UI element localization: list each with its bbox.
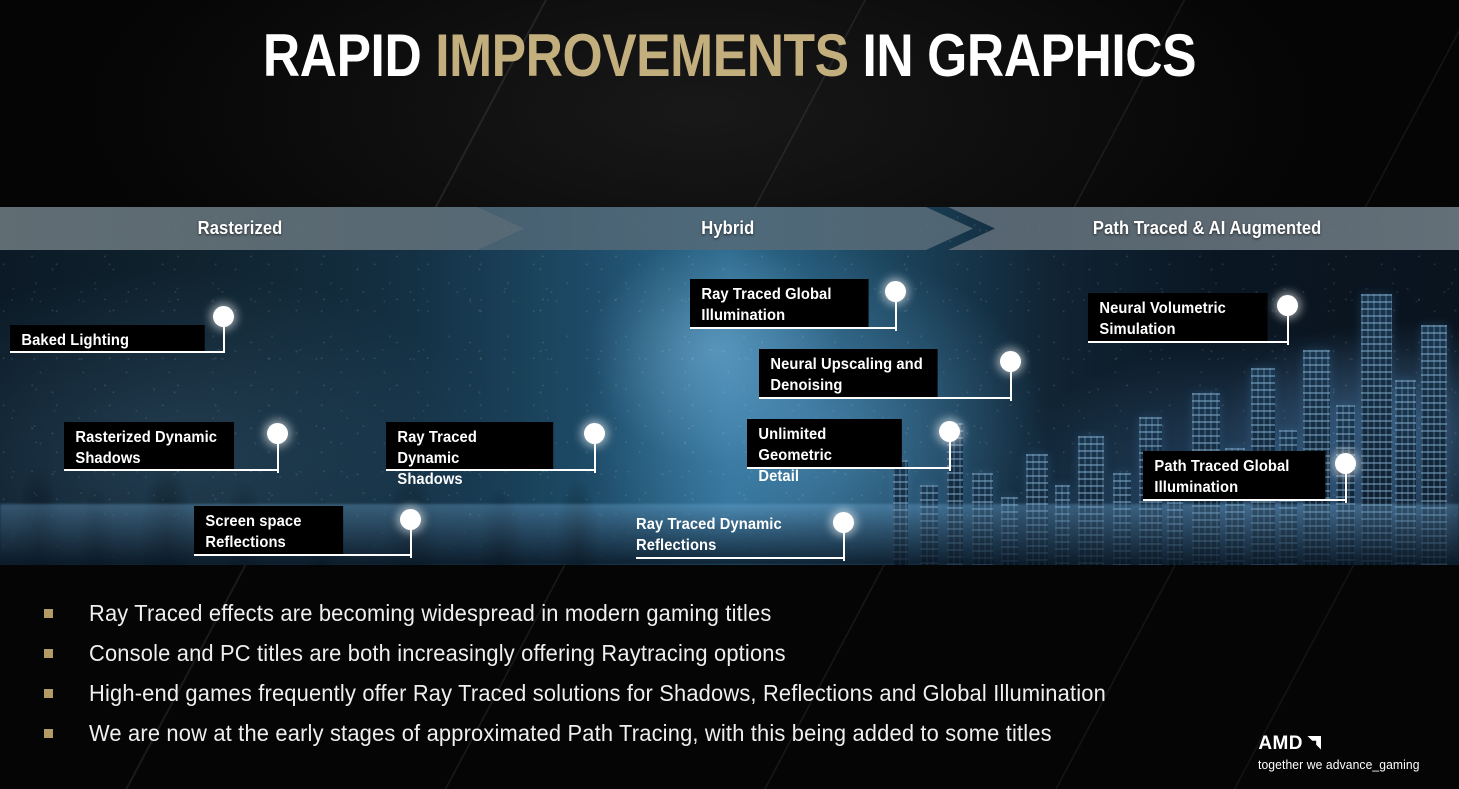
callout-dot [1277, 295, 1298, 316]
callout-underline [1143, 499, 1347, 501]
amd-arrow-icon [1306, 736, 1321, 751]
callout-label: Path Traced Global Illumination [1143, 451, 1325, 501]
list-item: High-end games frequently offer Ray Trac… [44, 678, 1244, 718]
callout-label: Ray Traced Global Illumination [690, 279, 869, 329]
bullet-text: Ray Traced effects are becoming widespre… [89, 598, 771, 628]
phase-segment-path-traced[interactable]: Path Traced & AI Augmented [948, 207, 1459, 250]
callout-dot [939, 421, 960, 442]
title-highlight: IMPROVEMENTS [435, 22, 848, 89]
bullet-text: Console and PC titles are both increasin… [89, 638, 786, 668]
callout-dot [400, 509, 421, 530]
callout-baked-lighting[interactable]: Baked Lighting [10, 325, 215, 353]
title-part-1: RAPID [263, 22, 435, 89]
list-item: We are now at the early stages of approx… [44, 718, 1244, 758]
amd-brand-text: AMD [1258, 734, 1302, 753]
callout-neural-upscaling-and-denoising[interactable]: Neural Upscaling and Denoising [759, 349, 947, 399]
callout-label: Ray Traced Dynamic Shadows [386, 422, 553, 471]
callout-dot [267, 423, 288, 444]
phase-segment-hybrid[interactable]: Hybrid [478, 207, 995, 250]
callout-dot [833, 512, 854, 533]
callout-label: Screen space Reflections [194, 506, 343, 556]
callout-unlimited-geometric-detail[interactable]: Unlimited Geometric Detail [747, 419, 910, 469]
callout-rasterized-dynamic-shadows[interactable]: Rasterized Dynamic Shadows [64, 422, 243, 471]
bullet-square-icon [44, 609, 53, 618]
phase-segment-rasterized[interactable]: Rasterized [0, 207, 525, 250]
callout-underline [759, 397, 1012, 399]
callout-dot [1000, 351, 1021, 372]
callout-underline [10, 351, 225, 353]
callout-screen-space-reflections[interactable]: Screen space Reflections [194, 506, 351, 556]
phase-band: Rasterized Hybrid Path Traced & AI Augme… [0, 207, 1459, 250]
bullet-text: We are now at the early stages of approx… [89, 718, 1052, 748]
callout-path-traced-global-illumination[interactable]: Path Traced Global Illumination [1143, 451, 1335, 501]
callout-underline [747, 467, 951, 469]
callout-underline [194, 554, 412, 556]
callout-neural-volumetric-simulation[interactable]: Neural Volumetric Simulation [1088, 293, 1277, 343]
callout-dot [885, 281, 906, 302]
list-item: Console and PC titles are both increasin… [44, 638, 1244, 678]
evolution-image-strip: Rasterized Hybrid Path Traced & AI Augme… [0, 207, 1459, 565]
callout-label: Rasterized Dynamic Shadows [64, 422, 234, 471]
callout-ray-traced-dynamic-shadows[interactable]: Ray Traced Dynamic Shadows [386, 422, 562, 471]
bullet-square-icon [44, 649, 53, 658]
callout-underline [636, 557, 845, 559]
phase-label-hybrid: Hybrid [701, 218, 754, 239]
amd-tagline: together we advance_gaming [1258, 759, 1420, 772]
bullet-square-icon [44, 729, 53, 738]
list-item: Ray Traced effects are becoming widespre… [44, 598, 1244, 638]
callout-dot [1335, 453, 1356, 474]
callout-underline [64, 469, 279, 471]
callout-underline [1088, 341, 1289, 343]
callout-label: Unlimited Geometric Detail [747, 419, 902, 469]
bullet-text: High-end games frequently offer Ray Trac… [89, 678, 1106, 708]
callout-underline [690, 327, 897, 329]
amd-wordmark: AMD [1258, 734, 1425, 753]
callout-dot [584, 423, 605, 444]
title-part-2: IN GRAPHICS [849, 22, 1196, 89]
bullet-square-icon [44, 689, 53, 698]
bullet-list: Ray Traced effects are becoming widespre… [44, 598, 1244, 758]
phase-label-rasterized: Rasterized [198, 218, 283, 239]
page-title: RAPID IMPROVEMENTS IN GRAPHICS [102, 24, 1357, 87]
callout-dot [213, 306, 234, 327]
amd-logo: AMD together we advance_gaming [1258, 734, 1425, 772]
callout-label: Neural Upscaling and Denoising [759, 349, 938, 399]
callout-label: Ray Traced Dynamic Reflections [636, 509, 807, 559]
callout-underline [386, 469, 596, 471]
callout-label: Neural Volumetric Simulation [1088, 293, 1268, 343]
slide-root: RAPID IMPROVEMENTS IN GRAPHICS [0, 0, 1459, 789]
callout-ray-traced-global-illumination[interactable]: Ray Traced Global Illumination [690, 279, 878, 329]
callout-ray-traced-dynamic-reflections[interactable]: Ray Traced Dynamic Reflections [636, 509, 816, 559]
callout-label: Baked Lighting [10, 325, 205, 353]
phase-label-path-traced: Path Traced & AI Augmented [1093, 218, 1321, 239]
